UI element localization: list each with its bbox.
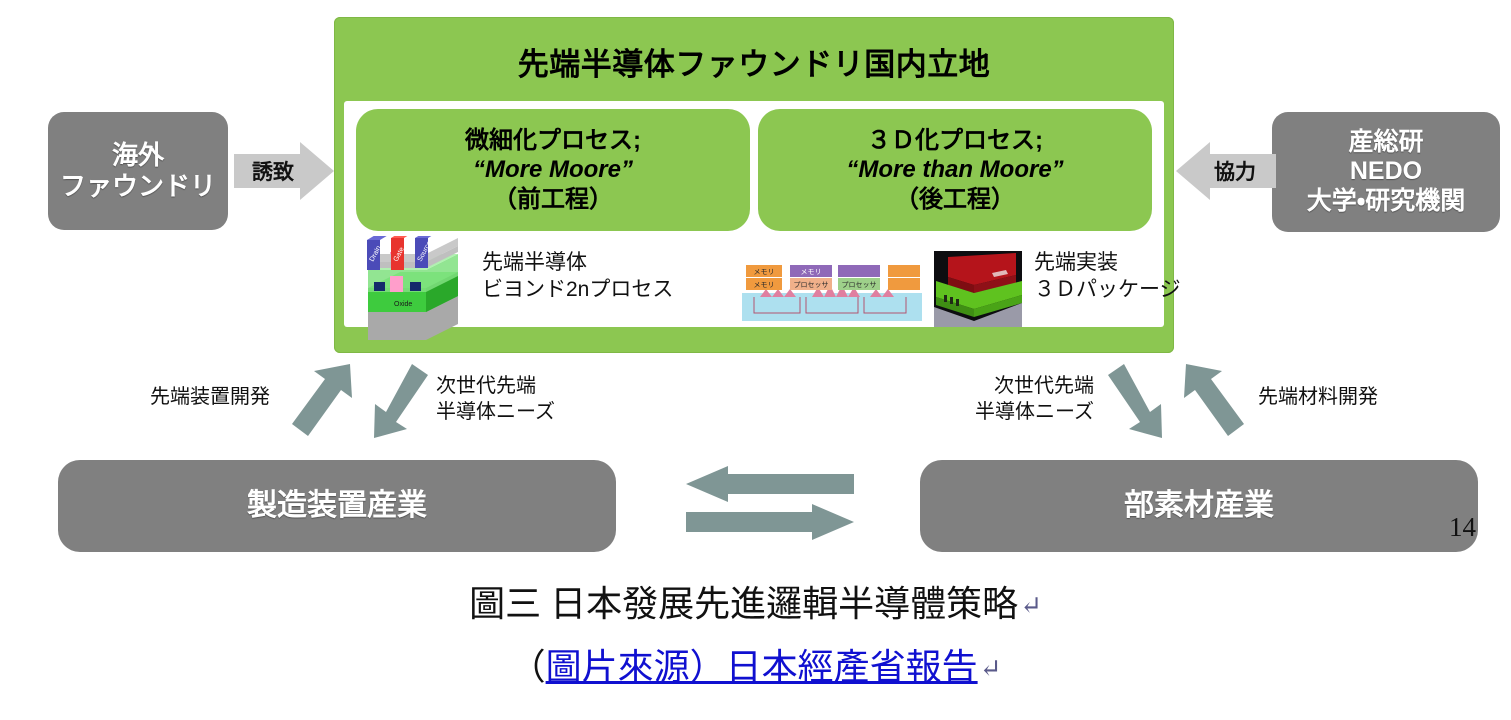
right-inbound-line2: 半導体ニーズ: [912, 400, 1094, 426]
package-photo-svg: [934, 251, 1022, 327]
paragraph-mark-2: ↵: [978, 654, 1002, 683]
arrow-down-left-icon: [362, 364, 428, 442]
svg-text:プロセッサ: プロセッサ: [794, 281, 829, 289]
transistor-svg: Drain Gate Source Oxide: [358, 236, 468, 344]
chiplet-illustration: メモリ メモリ メモリ プロセッサ プロセッサ: [742, 257, 922, 327]
manufacturing-equipment-industry-box[interactable]: 製造装置産業: [58, 460, 616, 552]
transistor-caption: 先端半導体 ビヨンド2nプロセス: [482, 249, 673, 304]
slide-canvas: 先端半導体ファウンドリ国内立地 微細化プロセス; “More Moore” （前…: [0, 0, 1511, 720]
transistor-illustration: Drain Gate Source Oxide: [358, 236, 468, 344]
left-inbound-label: 次世代先端 半導体ニーズ: [436, 374, 555, 425]
left-outbound-label: 先端装置開発: [58, 385, 270, 411]
source-link[interactable]: 圖片來源）日本經產省報告: [546, 647, 978, 687]
caption-open-paren: （: [510, 647, 546, 687]
arrow-down-right-icon: [1108, 364, 1174, 442]
oxide-label: Oxide: [394, 301, 412, 308]
overseas-foundry-line1: 海外: [112, 140, 164, 171]
more-moore-line1: 微細化プロセス;: [465, 126, 641, 155]
materials-industry-label: 部素材産業: [1124, 488, 1274, 523]
cooperation-arrow: 協力: [1176, 140, 1276, 202]
process-box-more-moore[interactable]: 微細化プロセス; “More Moore” （前工程）: [356, 109, 750, 231]
center-green-panel: 先端半導体ファウンドリ国内立地 微細化プロセス; “More Moore” （前…: [334, 17, 1174, 353]
paragraph-mark-1: ↵: [1018, 591, 1042, 620]
double-arrow-icon: [686, 466, 854, 546]
package-photo: [934, 251, 1022, 327]
research-line1: 産総研: [1348, 128, 1423, 158]
right-down-arrow: [1108, 364, 1174, 442]
packaging-caption-line2: ３Ｄパッケージ: [1034, 276, 1181, 303]
more-moore-line2: “More Moore”: [473, 155, 633, 184]
research-institutions-box[interactable]: 産総研 NEDO 大学・研究機関: [1272, 112, 1500, 232]
overseas-foundry-line2: ファウンドリ: [60, 171, 216, 202]
figure-caption-line-2: （圖片來源）日本經產省報告↵: [0, 638, 1511, 690]
materials-industry-box[interactable]: 部素材産業: [920, 460, 1478, 552]
more-than-moore-line3: （後工程）: [895, 185, 1015, 214]
transistor-caption-line2: ビヨンド2nプロセス: [482, 276, 673, 303]
process-box-more-than-moore[interactable]: ３Ｄ化プロセス; “More than Moore” （後工程）: [758, 109, 1152, 231]
induce-arrow: 誘致: [234, 140, 334, 202]
packaging-caption-line1: 先端実装: [1034, 249, 1181, 276]
arrow-up-left-icon: [1178, 364, 1244, 442]
induce-arrow-label: 誘致: [230, 156, 316, 186]
more-than-moore-line2: “More than Moore”: [846, 155, 1063, 184]
arrow-up-right-icon: [292, 364, 358, 442]
research-line3: 大学・研究機関: [1307, 187, 1466, 217]
right-outbound-text: 先端材料開発: [1258, 386, 1378, 408]
more-than-moore-line1: ３Ｄ化プロセス;: [867, 126, 1043, 155]
right-outbound-label: 先端材料開発: [1258, 385, 1378, 411]
right-up-arrow: [1178, 364, 1244, 442]
left-inbound-line1: 次世代先端: [436, 374, 555, 400]
industry-exchange-arrows: [686, 466, 854, 546]
cooperation-arrow-label: 協力: [1192, 156, 1278, 186]
page-number: 14: [1449, 512, 1476, 543]
svg-text:メモリ: メモリ: [754, 281, 775, 289]
packaging-caption: 先端実装 ３Ｄパッケージ: [1034, 249, 1181, 304]
right-inbound-label: 次世代先端 半導体ニーズ: [912, 374, 1094, 425]
right-inbound-line1: 次世代先端: [912, 374, 1094, 400]
svg-text:メモリ: メモリ: [754, 268, 775, 276]
more-moore-line3: （前工程）: [493, 185, 613, 214]
overseas-foundry-box[interactable]: 海外 ファウンドリ: [48, 112, 228, 230]
panel-title: 先端半導体ファウンドリ国内立地: [334, 39, 1174, 84]
svg-text:メモリ: メモリ: [801, 268, 822, 276]
left-down-arrow: [362, 364, 428, 442]
chiplet-svg: メモリ メモリ メモリ プロセッサ プロセッサ: [742, 257, 922, 327]
figure-caption-text: 圖三 日本發展先進邏輯半導體策略: [469, 584, 1018, 624]
research-line2: NEDO: [1350, 157, 1422, 187]
left-up-arrow: [292, 364, 358, 442]
manufacturing-equipment-industry-label: 製造装置産業: [247, 488, 427, 523]
svg-text:プロセッサ: プロセッサ: [842, 281, 877, 289]
figure-caption-line-1: 圖三 日本發展先進邏輯半導體策略↵: [0, 575, 1511, 627]
transistor-caption-line1: 先端半導体: [482, 249, 673, 276]
left-outbound-text: 先端装置開発: [150, 386, 270, 408]
left-inbound-line2: 半導体ニーズ: [436, 400, 555, 426]
